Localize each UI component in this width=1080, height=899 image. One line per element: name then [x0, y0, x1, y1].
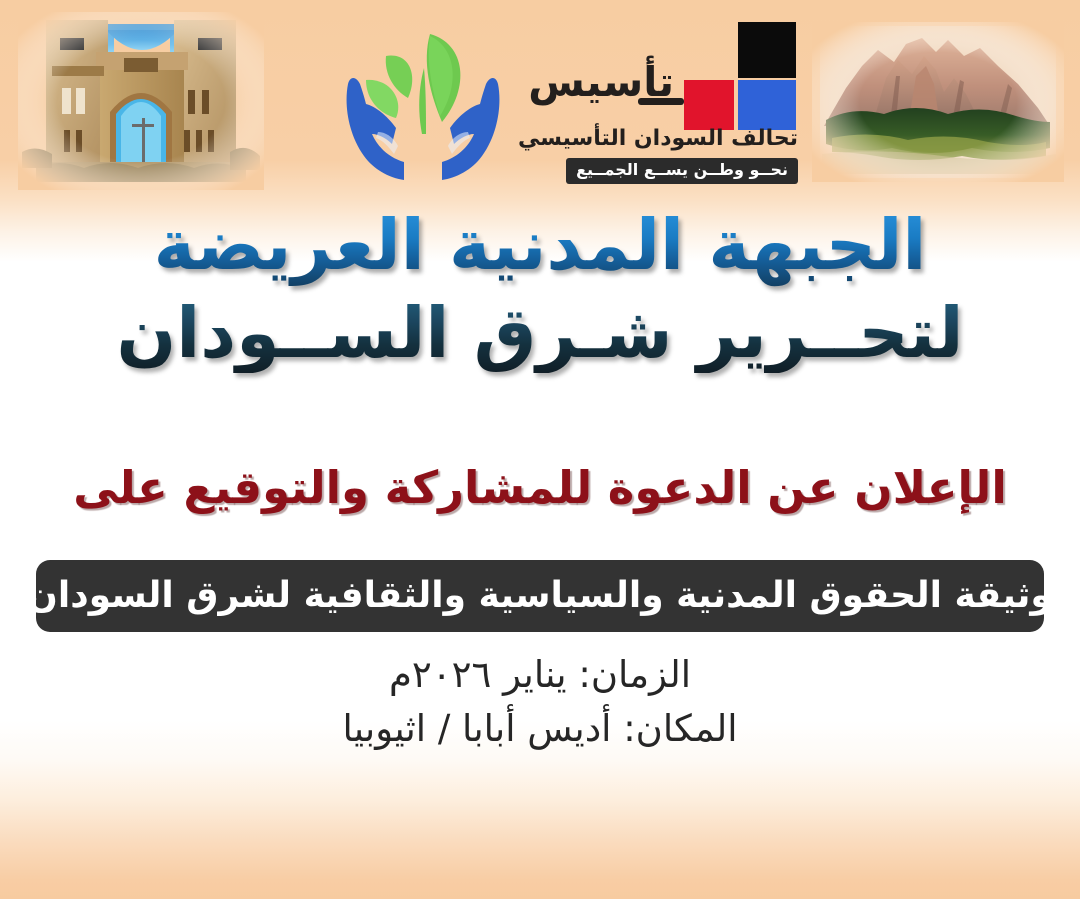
- document-banner-text: (وثيقة الحقوق المدنية والسياسية والثقافي…: [11, 578, 1070, 614]
- alliance-subtitle: تحالف السودان التأسيسي: [522, 128, 798, 150]
- document-banner: (وثيقة الحقوق المدنية والسياسية والثقافي…: [36, 560, 1044, 632]
- logo-square-blue: [738, 80, 796, 130]
- logo-dash-icon: [638, 98, 684, 105]
- event-time: الزمان: يناير ٢٠٢٦م: [0, 648, 1080, 702]
- hands-holding-plant-logo: [338, 22, 508, 188]
- alliance-slogan: نحــو وطــن يســع الجمــيع: [566, 158, 798, 184]
- alliance-logo: تأسيس تحالف السودان التأسيسي نحــو وطــن…: [520, 22, 802, 182]
- event-details: الزمان: يناير ٢٠٢٦م المكان: أديس أبابا /…: [0, 648, 1080, 755]
- taka-mountains-photo: [812, 22, 1064, 182]
- title-line-2: لتحــرير شـرق الســودان: [0, 294, 1080, 372]
- title-line-1: الجبهة المدنية العريضة: [0, 206, 1080, 290]
- poster-title: الجبهة المدنية العريضة لتحــرير شـرق الس…: [0, 206, 1080, 373]
- logo-square-black: [738, 22, 796, 78]
- poster-canvas: تأسيس تحالف السودان التأسيسي نحــو وطــن…: [0, 0, 1080, 899]
- logo-square-red: [684, 80, 734, 130]
- header-band: تأسيس تحالف السودان التأسيسي نحــو وطــن…: [0, 0, 1080, 196]
- logo-squares-icon: [674, 22, 796, 118]
- historic-stone-gate-photo: [18, 12, 264, 190]
- alliance-wordmark: تأسيس: [528, 62, 674, 103]
- event-place: المكان: أديس أبابا / اثيوبيا: [0, 702, 1080, 756]
- announcement-text: الإعلان عن الدعوة للمشاركة والتوقيع على: [0, 462, 1080, 514]
